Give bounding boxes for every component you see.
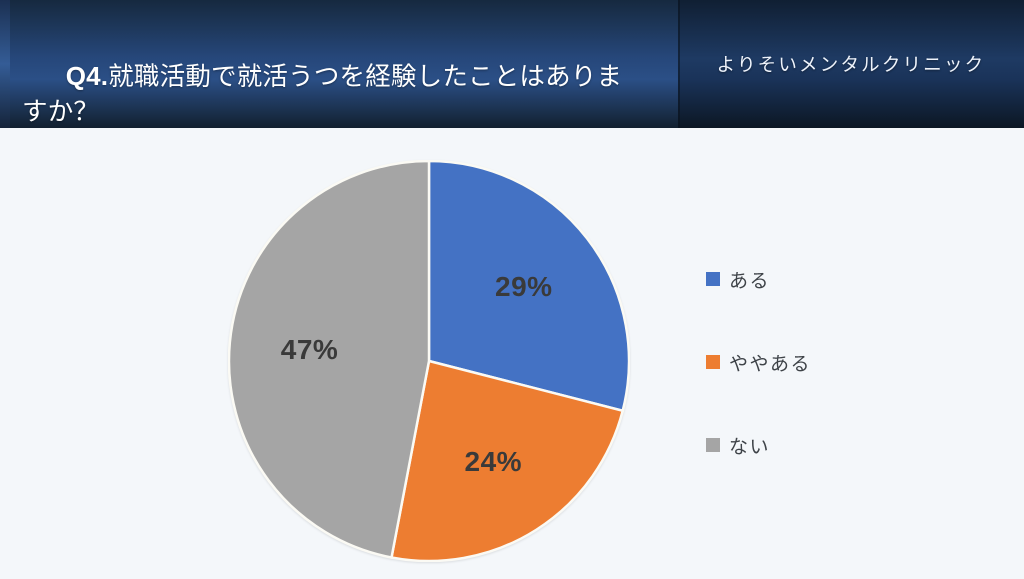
- chart-legend: ある ややある ない: [706, 268, 946, 517]
- chart-area: 29%24%47% ある ややある ない: [0, 128, 1024, 579]
- pie-slice-label: 29%: [495, 271, 553, 303]
- legend-swatch-blue: [706, 272, 720, 286]
- legend-label-yaya-aru: ややある: [729, 349, 811, 376]
- clinic-name: よりそいメンタルクリニック: [678, 0, 1024, 128]
- question-number: Q4.: [66, 61, 109, 91]
- pie-chart: 29%24%47%: [228, 160, 630, 562]
- legend-swatch-gray: [706, 438, 720, 452]
- question-text: 就職活動で就活うつを経験したことはありますか？: [22, 63, 622, 126]
- slide-root: Q4.就職活動で就活うつを経験したことはありますか？ よりそいメンタルクリニック…: [0, 0, 1024, 579]
- legend-item-aru[interactable]: ある: [706, 268, 946, 290]
- legend-item-nai[interactable]: ない: [706, 434, 946, 456]
- legend-swatch-orange: [706, 355, 720, 369]
- slide-header: Q4.就職活動で就活うつを経験したことはありますか？ よりそいメンタルクリニック: [0, 0, 1024, 128]
- pie-slice-label: 47%: [281, 334, 339, 366]
- pie-slice-label: 24%: [465, 446, 523, 478]
- legend-label-nai: ない: [729, 432, 770, 459]
- legend-label-aru: ある: [729, 266, 770, 293]
- legend-item-yaya-aru[interactable]: ややある: [706, 351, 946, 373]
- page-title: Q4.就職活動で就活うつを経験したことはありますか？: [22, 24, 642, 128]
